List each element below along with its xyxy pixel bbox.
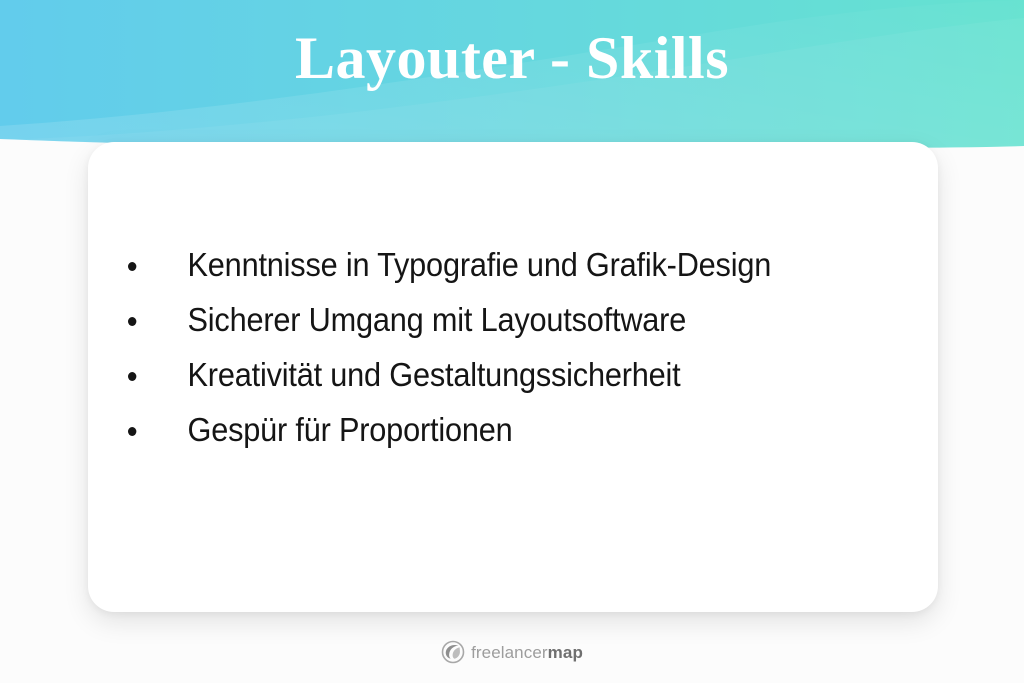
logo-text-bold: map — [548, 643, 583, 662]
list-item: Gespür für Proportionen — [128, 407, 859, 452]
list-item: Kenntnisse in Typografie und Grafik-Desi… — [128, 242, 859, 287]
header-banner: Layouter - Skills — [0, 0, 1024, 160]
page-title: Layouter - Skills — [0, 24, 1024, 93]
logo-wordmark: freelancermap — [471, 644, 583, 661]
slide-root: Layouter - Skills Kenntnisse in Typograf… — [0, 0, 1024, 683]
footer-logo: freelancermap — [0, 640, 1024, 664]
logo-text-light: freelancer — [471, 643, 548, 662]
content-card: Kenntnisse in Typografie und Grafik-Desi… — [88, 142, 938, 612]
list-item: Kreativität und Gestaltungssicherheit — [128, 352, 859, 397]
skills-bullet-list: Kenntnisse in Typografie und Grafik-Desi… — [128, 242, 914, 462]
freelancermap-circle-icon — [441, 640, 465, 664]
list-item: Sicherer Umgang mit Layoutsoftware — [128, 297, 859, 342]
